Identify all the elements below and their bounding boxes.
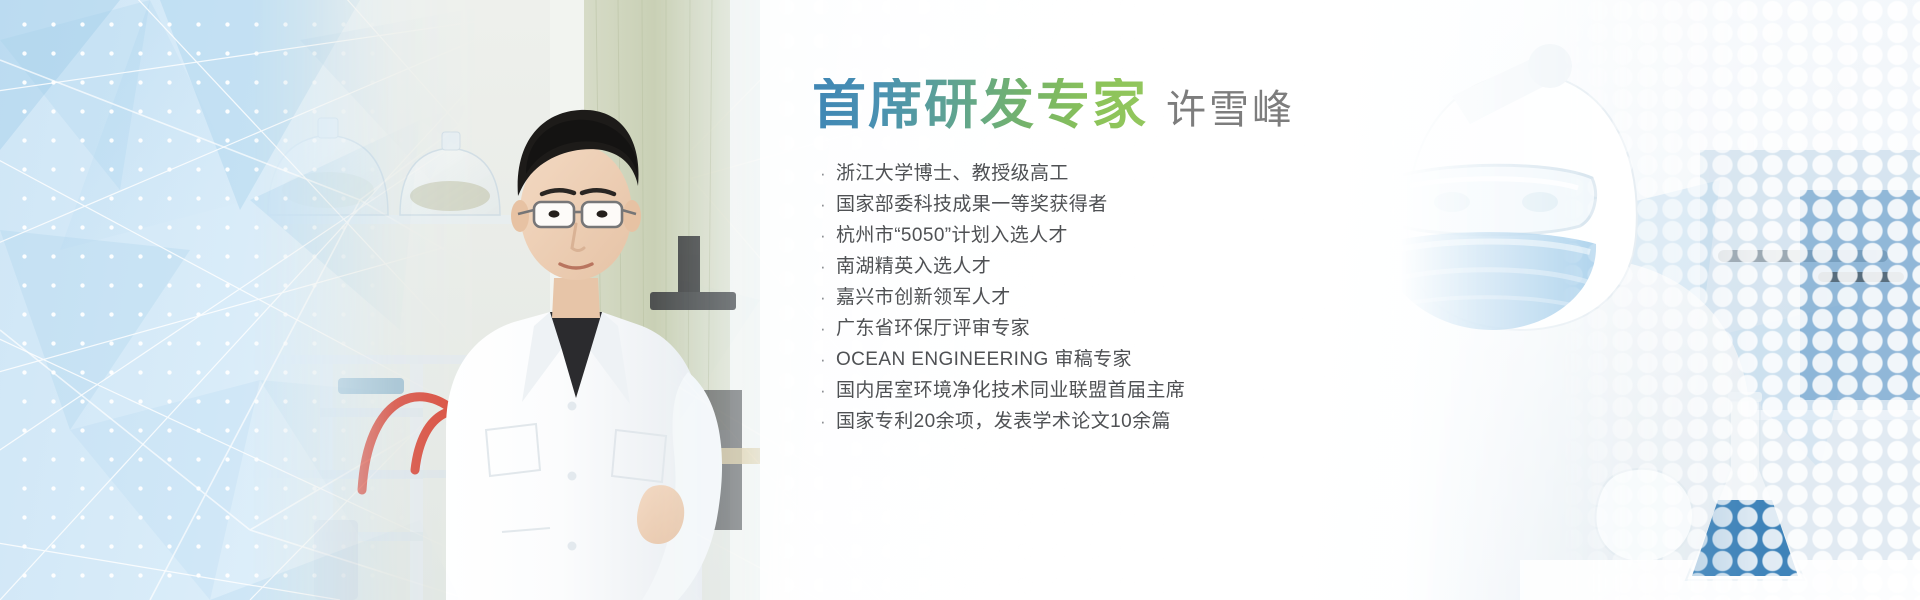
credential-text: 国家专利20余项，发表学术论文10余篇 <box>836 406 1171 437</box>
bullet-marker-icon: · <box>820 313 836 344</box>
bullet-marker-icon: · <box>820 282 836 313</box>
credential-text: 国家部委科技成果一等奖获得者 <box>836 189 1108 220</box>
bullet-marker-icon: · <box>820 344 836 375</box>
bullet-marker-icon: · <box>820 406 836 437</box>
list-item: · 国家部委科技成果一等奖获得者 <box>820 189 1185 220</box>
scientist-portrait-photo <box>250 0 810 600</box>
list-item: · OCEAN ENGINEERING 审稿专家 <box>820 344 1185 375</box>
credential-text: 国内居室环境净化技术同业联盟首届主席 <box>836 375 1185 406</box>
credential-text: 浙江大学博士、教授级高工 <box>836 158 1069 189</box>
list-item: · 广东省环保厅评审专家 <box>820 313 1185 344</box>
list-item: · 嘉兴市创新领军人才 <box>820 282 1185 313</box>
list-item: · 浙江大学博士、教授级高工 <box>820 158 1185 189</box>
credential-text: 广东省环保厅评审专家 <box>836 313 1030 344</box>
list-item: · 国内居室环境净化技术同业联盟首届主席 <box>820 375 1185 406</box>
title-person-name: 许雪峰 <box>1166 90 1295 130</box>
title-role: 首席研发专家 <box>812 78 1148 132</box>
bullet-marker-icon: · <box>820 158 836 189</box>
list-item: · 国家专利20余项，发表学术论文10余篇 <box>820 406 1185 437</box>
bullet-marker-icon: · <box>820 375 836 406</box>
credential-text: 杭州市“5050”计划入选人才 <box>836 220 1068 251</box>
banner-content: 首席研发专家 许雪峰 · 浙江大学博士、教授级高工 · 国家部委科技成果一等奖获… <box>812 0 1872 600</box>
list-item: · 杭州市“5050”计划入选人才 <box>820 220 1185 251</box>
credential-text: 南湖精英入选人才 <box>836 251 991 282</box>
expert-profile-banner: 首席研发专家 许雪峰 · 浙江大学博士、教授级高工 · 国家部委科技成果一等奖获… <box>0 0 1920 600</box>
credential-text: 嘉兴市创新领军人才 <box>836 282 1011 313</box>
bullet-marker-icon: · <box>820 251 836 282</box>
bullet-marker-icon: · <box>820 220 836 251</box>
credential-text: OCEAN ENGINEERING 审稿专家 <box>836 344 1132 375</box>
list-item: · 南湖精英入选人才 <box>820 251 1185 282</box>
bullet-marker-icon: · <box>820 189 836 220</box>
banner-title: 首席研发专家 许雪峰 <box>812 78 1295 132</box>
credentials-list: · 浙江大学博士、教授级高工 · 国家部委科技成果一等奖获得者 · 杭州市“50… <box>820 158 1185 437</box>
